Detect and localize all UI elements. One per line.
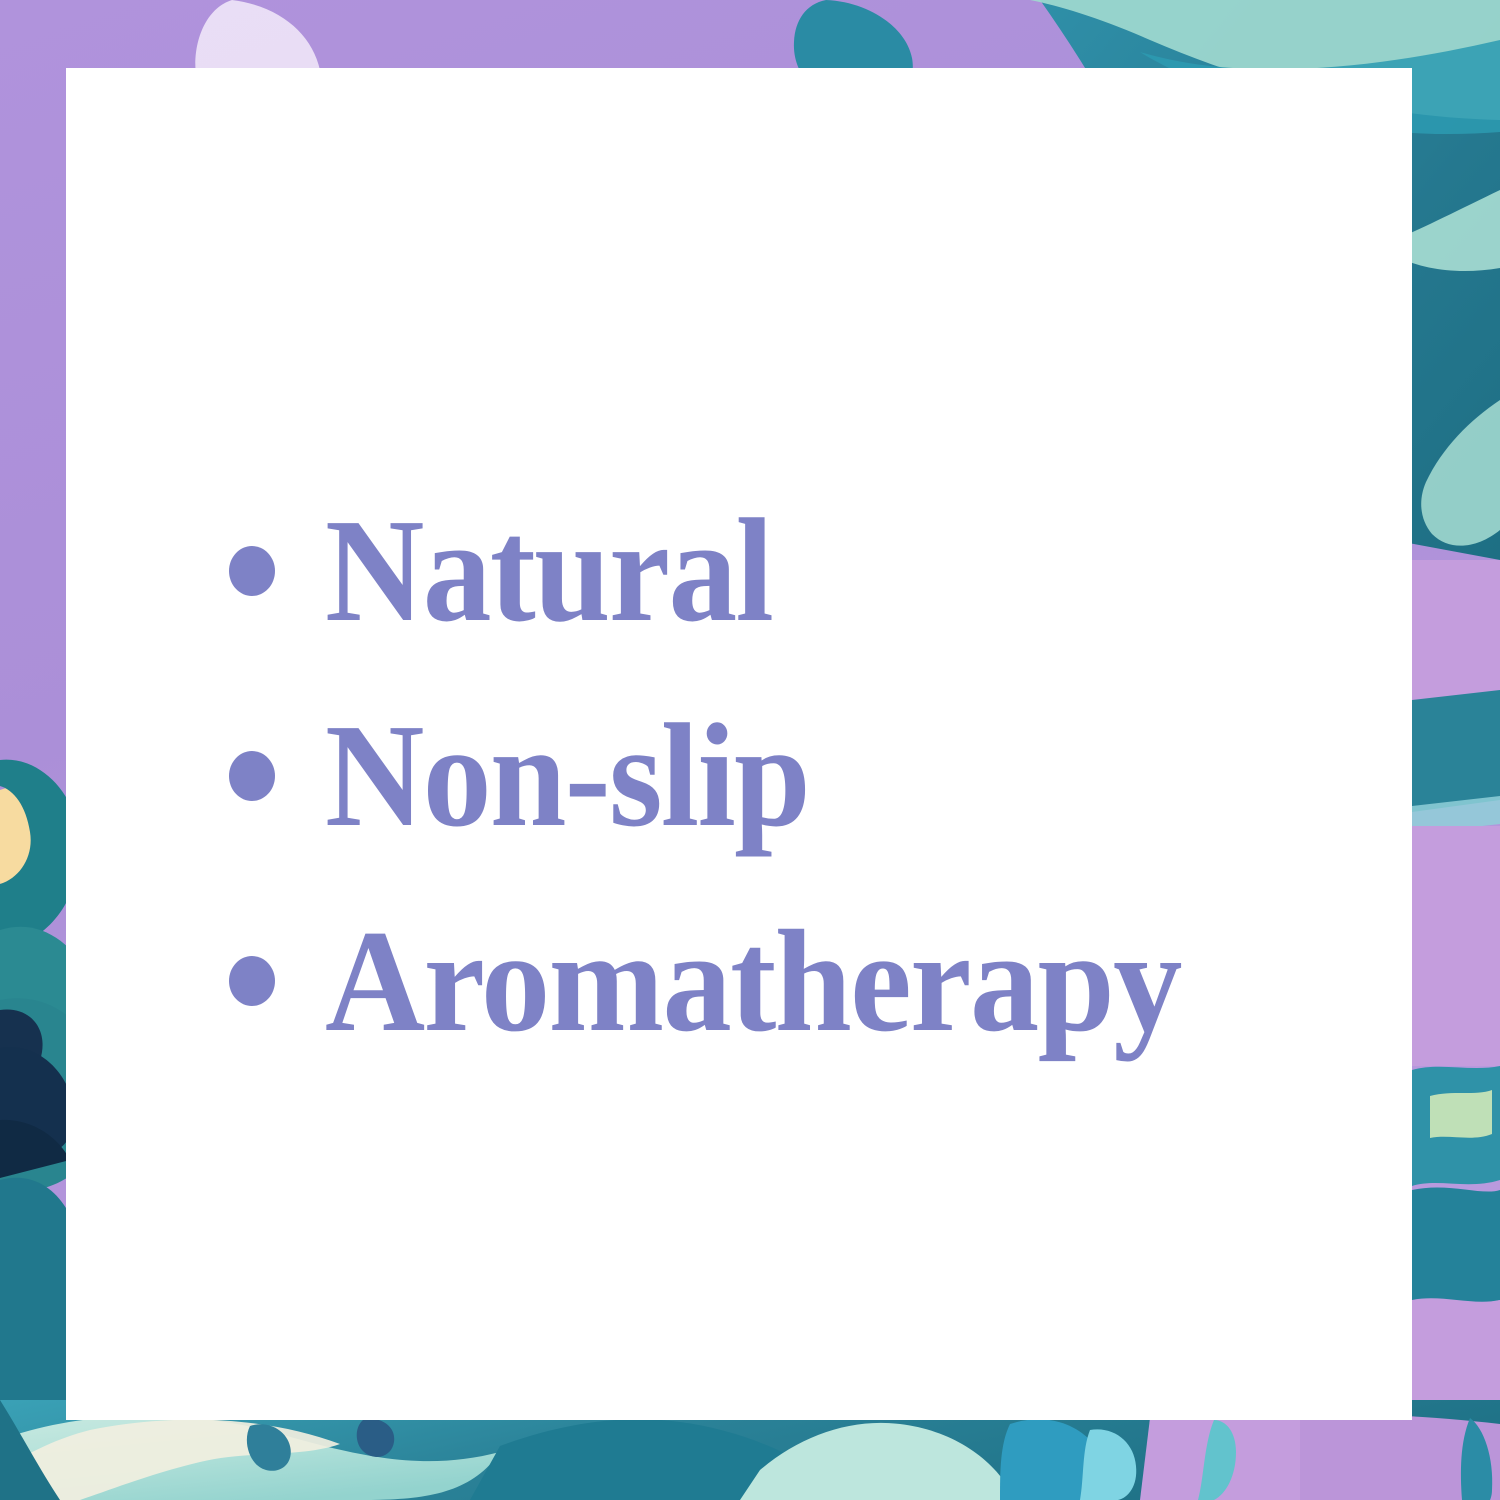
teal-band-left-bottom	[0, 1178, 66, 1420]
pale-patch-right-lower	[1430, 1090, 1492, 1138]
list-item: Aromatherapy	[229, 878, 1409, 1083]
bullet-dot-icon	[229, 751, 275, 801]
lilac-band-right-lower	[1412, 826, 1500, 1066]
feature-bullet-list: Natural Non-slip Aromatherapy	[229, 468, 1409, 1083]
feature-label-aromatherapy: Aromatherapy	[325, 908, 1181, 1054]
white-content-card: Natural Non-slip Aromatherapy	[66, 68, 1412, 1420]
bullet-dot-icon	[229, 546, 275, 596]
teal-patch-right-bottom	[1412, 1187, 1500, 1302]
list-item: Natural	[229, 468, 1409, 673]
bullet-dot-icon	[229, 956, 275, 1006]
product-feature-graphic: Natural Non-slip Aromatherapy	[0, 0, 1500, 1500]
teal-band-right-mid	[1412, 690, 1500, 812]
list-item: Non-slip	[229, 673, 1409, 878]
feature-label-natural: Natural	[325, 497, 772, 645]
feature-label-non-slip: Non-slip	[325, 702, 809, 850]
